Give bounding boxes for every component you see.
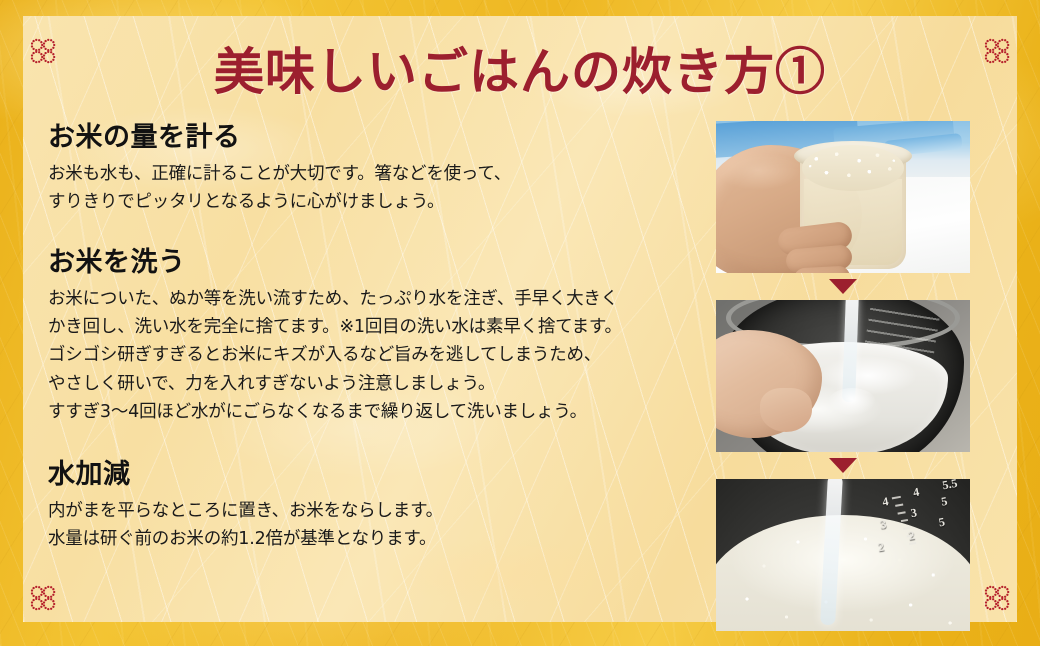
body-line: 水量は研ぐ前のお米の約1.2倍が基準となります。 — [48, 525, 688, 553]
knuckles — [760, 388, 812, 432]
section-heading: お米を洗う — [48, 247, 688, 278]
down-arrow-icon — [829, 279, 857, 294]
instructions-column: お米の量を計る お米も水も、正確に計ることが大切です。箸などを使って、 すりきり… — [48, 122, 688, 553]
section-wash-rice: お米を洗う お米についた、ぬか等を洗い流すため、たっぷり水を注ぎ、手早く大きく … — [48, 247, 688, 427]
section-body: 内がまを平らなところに置き、お米をならします。 水量は研ぐ前のお米の約1.2倍が… — [48, 497, 688, 554]
section-heading: お米の量を計る — [48, 122, 688, 153]
ornament-bottom-left-icon — [30, 585, 56, 611]
section-heading: 水加減 — [48, 459, 688, 490]
scale-number: 3 — [879, 517, 888, 533]
body-line: 内がまを平らなところに置き、お米をならします。 — [48, 497, 688, 525]
arrow-2-wrap — [716, 452, 970, 479]
rice-grains-top — [802, 145, 904, 191]
scale-tick — [909, 542, 916, 545]
photo-washing-rice-in-inner-pot — [716, 300, 970, 452]
scale-number: 3 — [910, 505, 919, 521]
section-body: お米も水も、正確に計ることが大切です。箸などを使って、 すりきりでピッタリとなる… — [48, 160, 688, 217]
body-line: お米も水も、正確に計ることが大切です。箸などを使って、 — [48, 160, 688, 188]
body-line: お米についた、ぬか等を洗い流すため、たっぷり水を注ぎ、手早く大きく — [48, 285, 688, 313]
body-line: すりきりでピッタリとなるように心がけましょう。 — [48, 188, 688, 216]
scale-number: 4 — [881, 494, 890, 510]
scale-number: 5 — [940, 494, 949, 510]
scale-number: 5 — [938, 515, 947, 531]
section-water-amount: 水加減 内がまを平らなところに置き、お米をならします。 水量は研ぐ前のお米の約1… — [48, 459, 688, 554]
down-arrow-icon — [829, 458, 857, 473]
ornament-bottom-right-icon — [984, 585, 1010, 611]
photo-measuring-cup-of-rice — [716, 121, 970, 273]
water-splash — [828, 388, 876, 416]
section-measure-rice: お米の量を計る お米も水も、正確に計ることが大切です。箸などを使って、 すりきり… — [48, 122, 688, 217]
body-line: やさしく研いで、力を入れすぎないよう注意しましょう。 — [48, 370, 688, 398]
scale-number: 2 — [877, 540, 886, 556]
section-body: お米についた、ぬか等を洗い流すため、たっぷり水を注ぎ、手早く大きく かき回し、洗… — [48, 285, 688, 427]
photo-column: 234234555.5 — [716, 121, 970, 631]
page-title: 美味しいごはんの炊き方① — [0, 32, 1040, 104]
scale-number: 5.5 — [941, 479, 958, 493]
poster-root: 美味しいごはんの炊き方① お米の量を計る お米も水も、正確に計ることが大切です。… — [0, 0, 1040, 646]
scale-tick — [895, 504, 904, 507]
scale-tick — [892, 496, 901, 500]
scale-number: 4 — [912, 485, 921, 501]
body-line: ゴシゴシ研ぎすぎるとお米にキズが入るなど旨みを逃してしまうため、 — [48, 341, 688, 369]
scale-tick — [897, 511, 905, 514]
body-line: かき回し、洗い水を完全に捨てます。※1回目の洗い水は素早く捨てます。 — [48, 313, 688, 341]
scale-tick — [900, 519, 908, 522]
body-line: すすぎ3〜4回ほど水がにごらなくなるまで繰り返して洗いましょう。 — [48, 398, 688, 426]
photo-adding-water-with-scale: 234234555.5 — [716, 479, 970, 631]
arrow-1-wrap — [716, 273, 970, 300]
water-level-scale: 234234555.5 — [864, 479, 970, 587]
